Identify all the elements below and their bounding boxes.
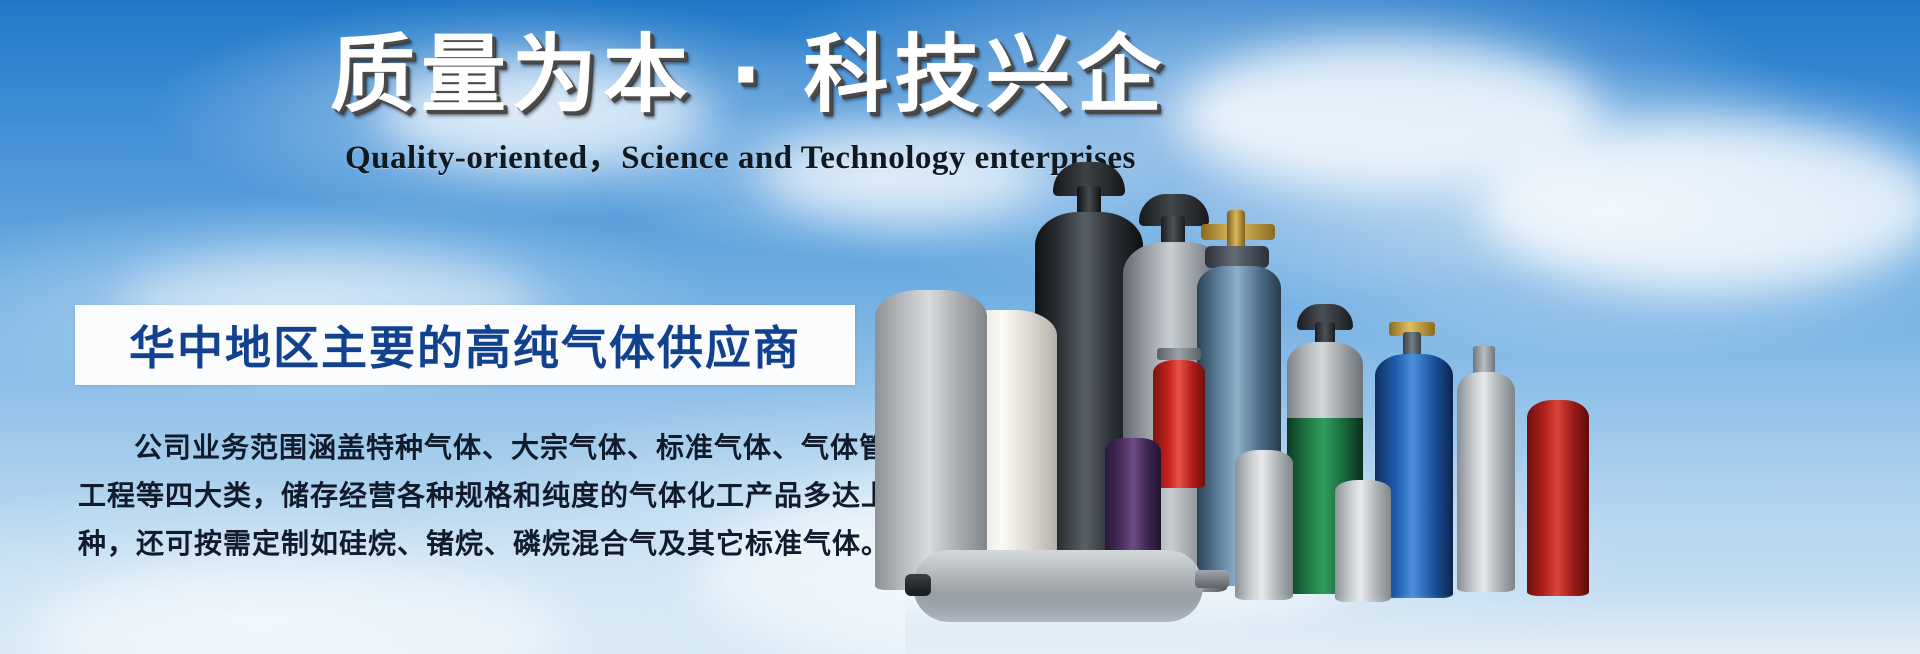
cylinder-cap	[1205, 246, 1269, 268]
paragraph-line: 种，还可按需定制如硅烷、锗烷、磷烷混合气及其它标准气体。	[78, 521, 868, 569]
page-title: 质量为本 · 科技兴企	[330, 22, 1250, 132]
cylinder-valve	[1157, 348, 1201, 360]
promo-banner: 质量为本 · 科技兴企 Quality-oriented，Science and…	[0, 0, 1920, 654]
tank-valve	[905, 574, 931, 596]
dark-red-cylinder	[1527, 400, 1589, 596]
paragraph-line: 公司业务范围涵盖特种气体、大宗气体、标准气体、气体管道	[78, 425, 868, 473]
highlight-band: 华中地区主要的高纯气体供应商	[75, 305, 855, 385]
light-grey-cylinder	[875, 290, 987, 590]
description-paragraph: 公司业务范围涵盖特种气体、大宗气体、标准气体、气体管道 工程等四大类，储存经营各…	[78, 425, 868, 569]
silver-cylinder	[1335, 480, 1391, 602]
photo-floor-gradient	[905, 594, 1920, 654]
paragraph-line: 工程等四大类，储存经营各种规格和纯度的气体化工产品多达上百	[78, 473, 868, 521]
highlight-band-text: 华中地区主要的高纯气体供应商	[75, 305, 855, 385]
silver-cylinder	[1235, 450, 1293, 600]
gas-cylinders-photo	[905, 150, 1920, 654]
cloud-puff	[40, 560, 560, 654]
silver-cylinder	[1457, 372, 1515, 592]
tank-valve	[1195, 570, 1229, 588]
